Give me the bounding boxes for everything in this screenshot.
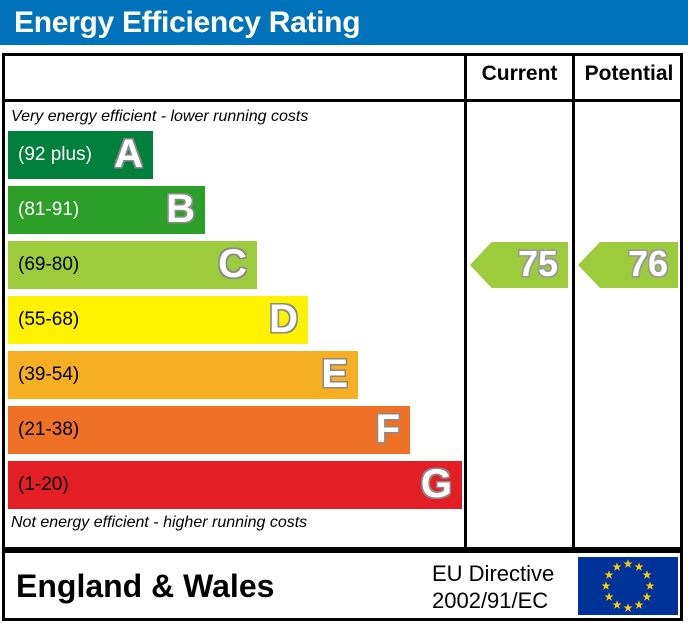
rating-band-c: (69-80) C — [8, 241, 257, 289]
eu-directive-label: EU Directive 2002/91/EC — [432, 560, 572, 614]
title-bar: Energy Efficiency Rating — [0, 0, 688, 45]
region-label: England & Wales — [16, 566, 274, 606]
rating-band-d: (55-68) D — [8, 296, 308, 344]
header-rule — [2, 99, 683, 102]
column-divider-potential — [572, 53, 575, 550]
band-range-e: (39-54) — [18, 351, 79, 399]
caption-very-efficient: Very energy efficient - lower running co… — [11, 108, 308, 126]
eu-flag-icon — [578, 557, 678, 615]
band-range-c: (69-80) — [18, 241, 79, 289]
band-letter-a: A — [114, 131, 143, 179]
band-range-f: (21-38) — [18, 406, 79, 454]
rating-band-f: (21-38) F — [8, 406, 410, 454]
band-letter-c: C — [218, 241, 247, 289]
potential-rating-value: 76 — [628, 242, 668, 288]
eu-directive-line1: EU Directive — [432, 560, 572, 587]
rating-band-g: (1-20) G — [8, 461, 462, 509]
energy-efficiency-certificate: Energy Efficiency Rating Current Potenti… — [0, 0, 688, 623]
band-letter-e: E — [321, 351, 348, 399]
band-range-a: (92 plus) — [18, 131, 92, 179]
eu-directive-line2: 2002/91/EC — [432, 587, 572, 614]
band-range-d: (55-68) — [18, 296, 79, 344]
band-letter-b: B — [166, 186, 195, 234]
band-letter-g: G — [421, 461, 452, 509]
band-letter-f: F — [376, 406, 400, 454]
current-rating-value: 75 — [518, 242, 558, 288]
band-range-g: (1-20) — [18, 461, 69, 509]
column-divider-current — [464, 53, 467, 550]
page-title: Energy Efficiency Rating — [14, 3, 360, 43]
rating-band-e: (39-54) E — [8, 351, 358, 399]
rating-band-b: (81-91) B — [8, 186, 205, 234]
caption-not-efficient: Not energy efficient - higher running co… — [11, 514, 307, 532]
band-letter-d: D — [269, 296, 298, 344]
band-range-b: (81-91) — [18, 186, 79, 234]
rating-band-a: (92 plus) A — [8, 131, 153, 179]
column-header-current: Current — [467, 62, 572, 86]
column-header-potential: Potential — [575, 62, 683, 86]
